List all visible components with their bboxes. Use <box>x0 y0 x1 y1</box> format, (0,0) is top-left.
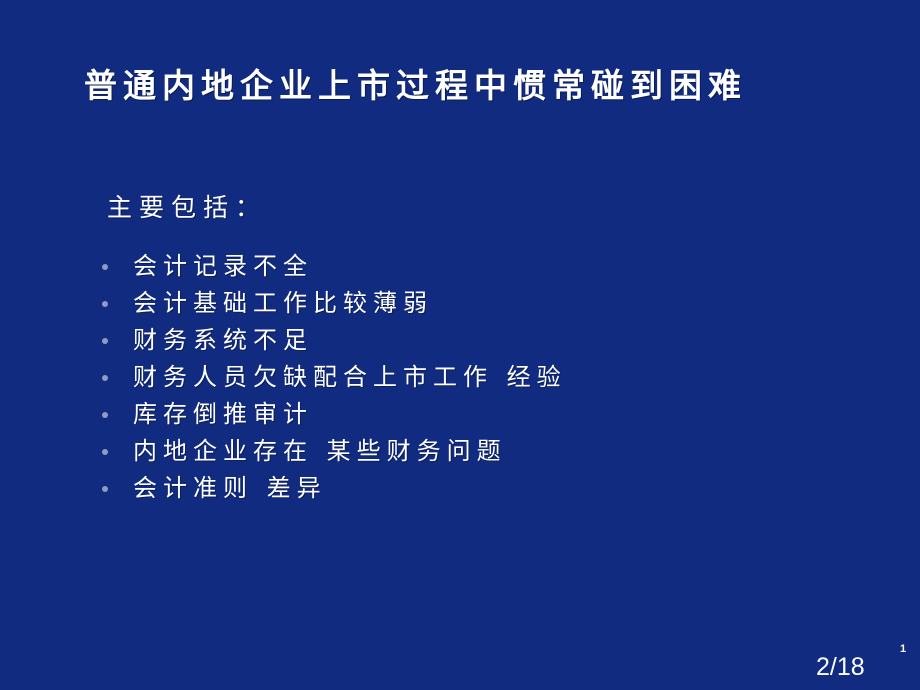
list-item: 会计基础工作比较薄弱 <box>99 285 819 322</box>
bullet-list: 会计记录不全 会计基础工作比较薄弱 财务系统不足 财务人员欠缺配合上市工作 经验… <box>99 248 819 507</box>
list-item: 会计记录不全 <box>99 248 819 285</box>
list-item-label: 会计记录不全 <box>133 248 313 285</box>
list-item: 财务系统不足 <box>99 322 819 359</box>
list-item-label: 会计准则 差异 <box>133 470 327 507</box>
list-item-label: 库存倒推审计 <box>133 396 313 433</box>
bullet-dot-icon <box>102 301 108 307</box>
list-item-label: 财务人员欠缺配合上市工作 经验 <box>133 359 567 396</box>
presentation-slide: 普通内地企业上市过程中惯常碰到困难 主要包括： 会计记录不全 会计基础工作比较薄… <box>0 0 920 690</box>
bullet-dot-icon <box>102 449 108 455</box>
list-item: 财务人员欠缺配合上市工作 经验 <box>99 359 819 396</box>
list-item: 库存倒推审计 <box>99 396 819 433</box>
page-indicator: 2/18 <box>816 652 865 682</box>
bullet-dot-icon <box>102 338 108 344</box>
list-item: 会计准则 差异 <box>99 470 819 507</box>
list-item: 内地企业存在 某些财务问题 <box>99 433 819 470</box>
bullet-dot-icon <box>102 375 108 381</box>
list-item-label: 内地企业存在 某些财务问题 <box>133 433 507 470</box>
list-item-label: 会计基础工作比较薄弱 <box>133 285 433 322</box>
slide-body: 主要包括： 会计记录不全 会计基础工作比较薄弱 财务系统不足 财务人员欠缺配合上… <box>0 0 920 690</box>
bullet-dot-icon <box>102 412 108 418</box>
bullet-dot-icon <box>102 264 108 270</box>
intro-label: 主要包括： <box>107 192 267 224</box>
list-item-label: 财务系统不足 <box>133 322 313 359</box>
slide-number: 1 <box>900 642 906 656</box>
bullet-dot-icon <box>102 486 108 492</box>
